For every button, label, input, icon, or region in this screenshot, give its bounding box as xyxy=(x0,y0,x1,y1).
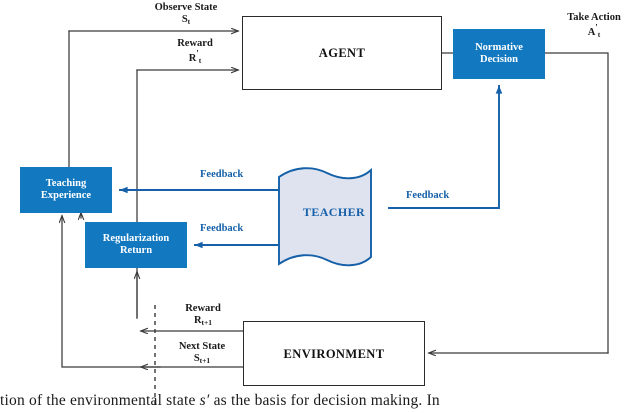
node-agent[interactable]: AGENT xyxy=(242,16,442,90)
normative-line-2: Decision xyxy=(480,54,518,65)
take-action-text: Take Action xyxy=(567,12,621,23)
next-state-symbol: St+1 xyxy=(194,353,210,364)
label-feedback-regularization: Feedback xyxy=(200,223,243,235)
reward-env-symbol: Rt+1 xyxy=(194,315,212,326)
reward-agent-symbol: R't xyxy=(189,53,202,64)
node-teaching-experience[interactable]: Teaching Experience xyxy=(20,167,112,213)
edge-take-action-right xyxy=(545,53,608,353)
node-teacher-label: TEACHER xyxy=(275,205,393,220)
label-reward-to-agent: Reward R't xyxy=(150,38,240,65)
observe-state-text: Observe State xyxy=(155,2,218,13)
take-action-symbol: A't xyxy=(588,27,601,38)
label-reward-from-environment: Reward Rt+1 xyxy=(163,303,243,326)
label-next-state: Next State St+1 xyxy=(160,341,244,364)
take-action-subscript: t xyxy=(598,30,601,39)
teaching-line-1: Teaching xyxy=(46,178,86,189)
node-normative-decision-label: Normative Decision xyxy=(475,42,523,66)
diagram-canvas: AGENT Normative Decision Teaching Experi… xyxy=(0,0,640,413)
label-feedback-teaching: Feedback xyxy=(200,169,243,181)
node-teaching-experience-label: Teaching Experience xyxy=(41,178,91,202)
reward-env-subscript: t+1 xyxy=(202,318,213,327)
node-regularization-return[interactable]: Regularization Return xyxy=(85,222,187,268)
caption-before: tion of the environmental state xyxy=(0,392,200,409)
next-state-text: Next State xyxy=(179,341,225,352)
observe-state-subscript: t xyxy=(188,17,191,26)
reward-agent-text: Reward xyxy=(177,38,213,49)
node-environment[interactable]: ENVIRONMENT xyxy=(243,321,425,386)
label-feedback-normative: Feedback xyxy=(406,190,449,202)
reward-agent-subscript: t xyxy=(199,56,202,65)
node-normative-decision[interactable]: Normative Decision xyxy=(453,29,545,79)
page-caption-text: tion of the environmental state s′ as th… xyxy=(0,392,640,410)
caption-symbol: s′ xyxy=(200,392,210,409)
next-state-subscript: t+1 xyxy=(200,356,211,365)
reward-env-text: Reward xyxy=(185,303,221,314)
caption-after: as the basis for decision making. In xyxy=(210,392,440,409)
label-observe-state: Observe State St xyxy=(126,2,246,25)
normative-line-1: Normative xyxy=(475,42,523,53)
node-environment-label: ENVIRONMENT xyxy=(284,347,385,361)
node-agent-label: AGENT xyxy=(319,46,365,60)
node-regularization-return-label: Regularization Return xyxy=(103,233,170,257)
label-take-action: Take Action A't xyxy=(548,12,640,39)
regularization-line-1: Regularization xyxy=(103,233,170,244)
observe-state-symbol: St xyxy=(182,14,190,25)
teaching-line-2: Experience xyxy=(41,190,91,201)
regularization-line-2: Return xyxy=(120,245,152,256)
